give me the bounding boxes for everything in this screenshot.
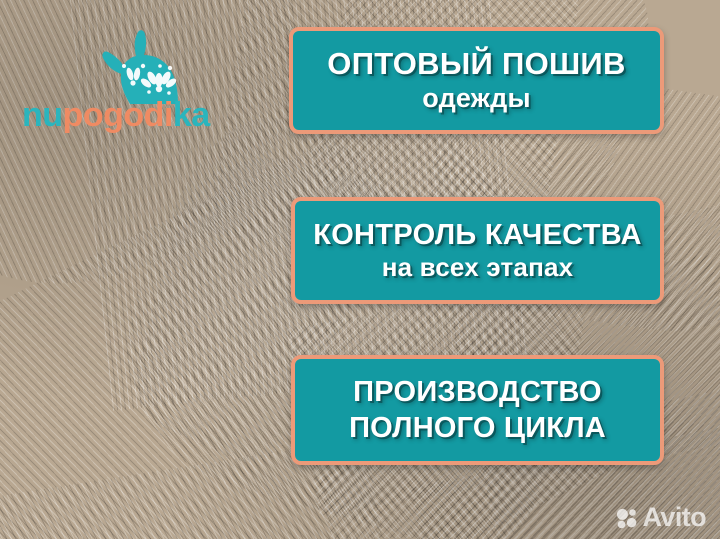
promo-image-canvas: nupogodika ОПТОВЫЙ ПОШИВ одежды КОНТРОЛЬ… <box>0 0 720 539</box>
fabric-mustard-bottom <box>0 85 627 539</box>
avito-watermark: Avito <box>616 504 707 531</box>
logo-text-part-3: ka <box>173 96 210 134</box>
banner-2-sub-line: на всех этапах <box>382 254 574 282</box>
avito-dots-icon <box>616 507 638 529</box>
brand-logo[interactable]: nupogodika <box>22 30 237 132</box>
banner-3-main-line: ПРОИЗВОДСТВО <box>353 377 602 408</box>
banner-3-sub-line: ПОЛНОГО ЦИКЛА <box>349 413 606 444</box>
feature-banner-quality-control[interactable]: КОНТРОЛЬ КАЧЕСТВА на всех этапах <box>291 197 664 304</box>
fabric-blue-sweater <box>113 134 608 539</box>
logo-text-part-1: nu <box>22 96 63 134</box>
banner-1-sub-line: одежды <box>422 84 530 113</box>
avito-label: Avito <box>643 504 707 531</box>
feature-banner-full-cycle-production[interactable]: ПРОИЗВОДСТВО ПОЛНОГО ЦИКЛА <box>291 355 664 465</box>
banner-2-main-line: КОНТРОЛЬ КАЧЕСТВА <box>313 220 642 251</box>
banner-1-main-line: ОПТОВЫЙ ПОШИВ <box>327 48 625 81</box>
logo-text-part-2: pogodi <box>63 96 173 134</box>
bunny-icon <box>100 30 184 104</box>
logo-wordmark: nupogodika <box>22 98 237 132</box>
feature-banner-wholesale-tailoring[interactable]: ОПТОВЫЙ ПОШИВ одежды <box>289 27 664 134</box>
